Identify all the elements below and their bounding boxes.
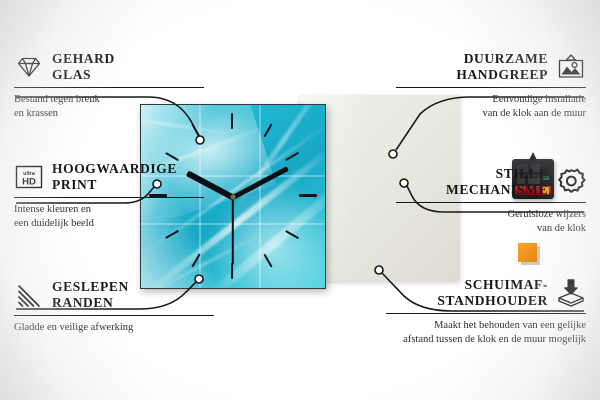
feature-gehard-glas: GEHARDGLAS Bestand tegen breuken krassen (14, 50, 204, 121)
feature-description: Maakt het behouden van een gelijkeafstan… (386, 319, 586, 347)
divider (14, 315, 214, 316)
mechanism-hanger (529, 152, 538, 161)
feature-description: Bestand tegen breuken krassen (14, 93, 204, 121)
feature-header: ultra HD HOOGWAARDIGEPRINT (14, 160, 204, 194)
divider (396, 202, 586, 203)
feature-title: DUURZAMEHANDGREEP (456, 51, 548, 84)
divider (14, 87, 204, 88)
feature-description: Eenvoudige installatievan de klok aan de… (396, 93, 586, 121)
feature-description: Intense kleuren eneen duidelijk beeld (14, 203, 204, 231)
divider (14, 197, 204, 198)
feature-header: DUURZAMEHANDGREEP (396, 50, 586, 84)
hour-marker-3 (299, 194, 317, 197)
feature-header: GEHARDGLAS (14, 50, 204, 84)
feature-description: Gladde en veilige afwerking (14, 321, 214, 335)
feature-geslepen-randen: GESLEPENRANDEN Gladde en veilige afwerki… (14, 278, 214, 335)
framed-picture-icon (556, 52, 586, 82)
gear-icon (556, 167, 586, 197)
glass-seam (259, 105, 261, 288)
ground-edges-icon (14, 280, 44, 310)
divider (396, 87, 586, 88)
ultra-hd-icon: ultra HD (14, 162, 44, 192)
svg-text:HD: HD (22, 177, 36, 188)
feature-title: HOOGWAARDIGEPRINT (52, 161, 177, 194)
diamond-icon (14, 52, 44, 82)
divider (386, 313, 586, 314)
feature-header: STILLEMECHANISME (396, 165, 586, 199)
feature-title: SCHUIMAF-STANDHOUDER (437, 277, 548, 310)
feature-title: GESLEPENRANDEN (52, 279, 129, 312)
feature-description: Geruisloze wijzersvan de klok (396, 208, 586, 236)
feature-header: GESLEPENRANDEN (14, 278, 214, 312)
feature-title: GEHARDGLAS (52, 51, 115, 84)
foam-spacer-pad (518, 243, 537, 262)
hour-marker-5 (263, 253, 273, 267)
feature-header: SCHUIMAF-STANDHOUDER (386, 276, 586, 310)
product-infographic: GEHARDGLAS Bestand tegen breuken krassen… (0, 0, 600, 400)
second-hand (232, 197, 234, 265)
feature-schuimaf-standhouder: SCHUIMAF-STANDHOUDER Maakt het behouden … (386, 276, 586, 347)
feature-stille-mechanisme: STILLEMECHANISME Geruisloze wijzersvan d… (396, 165, 586, 236)
clock-pivot (231, 194, 236, 199)
press-down-foam-icon (556, 278, 586, 308)
feature-duurzame-handgreep: DUURZAMEHANDGREEP Eenvoudige installatie… (396, 50, 586, 121)
feature-hd-print: ultra HD HOOGWAARDIGEPRINT Intense kleur… (14, 160, 204, 231)
feature-title: STILLEMECHANISME (446, 166, 548, 199)
